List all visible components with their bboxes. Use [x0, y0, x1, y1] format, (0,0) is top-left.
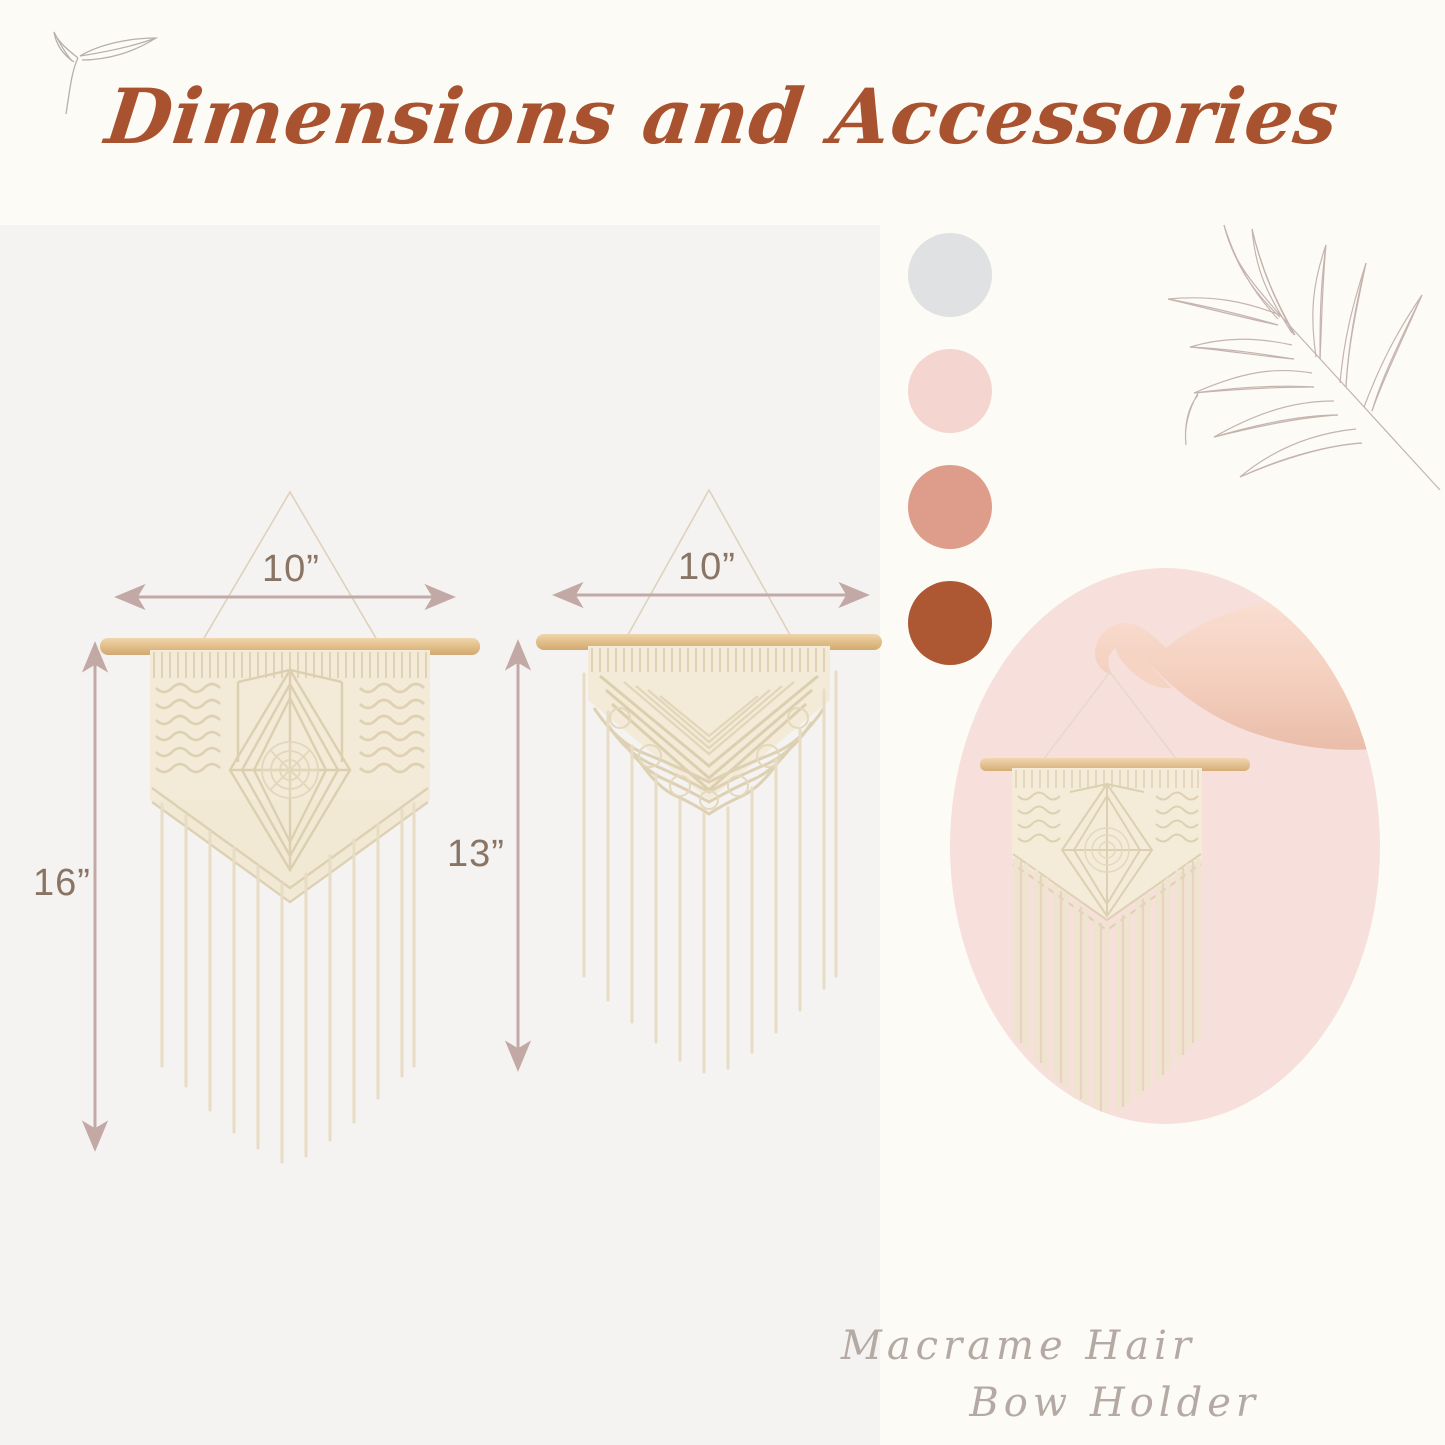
dimension-arrows: [0, 0, 1445, 1445]
height-label-product-a: 16”: [33, 862, 91, 905]
width-label-product-a: 10”: [262, 548, 320, 591]
width-label-product-b: 10”: [678, 546, 736, 589]
height-label-product-b: 13”: [447, 833, 505, 876]
watermark-line-1: Macrame Hair: [700, 1318, 1260, 1375]
infographic-canvas: Dimensions and Accessories: [0, 0, 1445, 1445]
product-name-watermark: Macrame Hair Bow Holder: [700, 1318, 1260, 1432]
watermark-line-2: Bow Holder: [700, 1375, 1260, 1432]
